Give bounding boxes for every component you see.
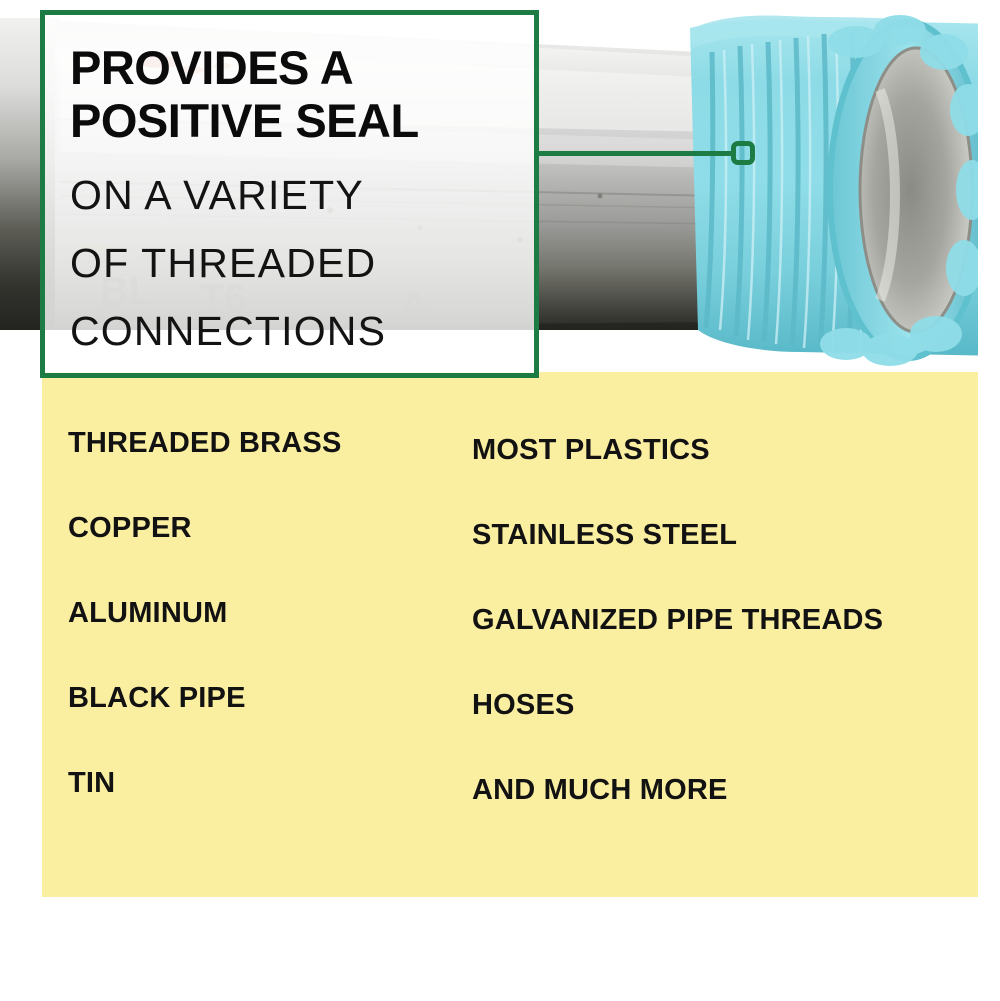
list-item: MOST PLASTICS [472, 435, 972, 520]
materials-columns: THREADED BRASS COPPER ALUMINUM BLACK PIP… [42, 372, 978, 897]
materials-left-column: THREADED BRASS COPPER ALUMINUM BLACK PIP… [68, 372, 468, 853]
materials-right-column: MOST PLASTICS STAINLESS STEEL GALVANIZED… [472, 372, 972, 860]
callout-marker-icon [731, 141, 755, 165]
list-item: AND MUCH MORE [472, 775, 972, 860]
infographic-root: BL T6 A [0, 0, 1000, 1001]
list-item: STAINLESS STEEL [472, 520, 972, 605]
headline-panel: PROVIDES A POSITIVE SEAL ON A VARIETY OF… [40, 10, 539, 378]
list-item: ALUMINUM [68, 598, 468, 683]
headline-bold: PROVIDES A POSITIVE SEAL [70, 41, 518, 147]
list-item: BLACK PIPE [68, 683, 468, 768]
headline-light: ON A VARIETY OF THREADED CONNECTIONS [70, 161, 518, 365]
list-item: GALVANIZED PIPE THREADS [472, 605, 972, 690]
callout-leader-line [535, 151, 735, 156]
headline-panel-inner: PROVIDES A POSITIVE SEAL ON A VARIETY OF… [45, 15, 534, 373]
materials-panel: THREADED BRASS COPPER ALUMINUM BLACK PIP… [42, 372, 978, 897]
list-item: TIN [68, 768, 468, 853]
list-item: COPPER [68, 513, 468, 598]
list-item: HOSES [472, 690, 972, 775]
list-item: THREADED BRASS [68, 428, 468, 513]
